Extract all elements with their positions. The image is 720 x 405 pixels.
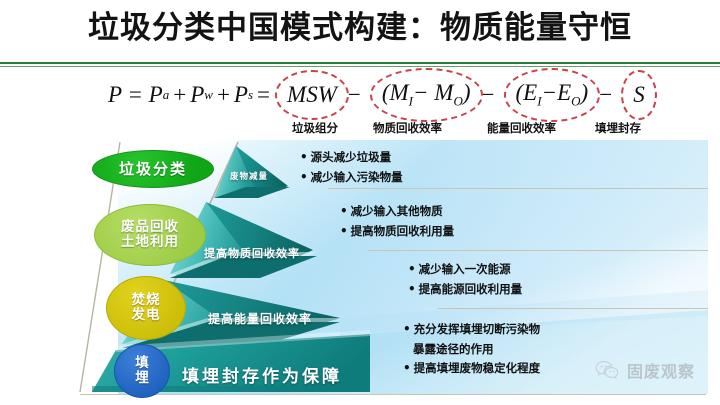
bullet-landfill-2: 提高填埋废物稳定化程度 xyxy=(403,359,540,379)
bullet-group-landfill: 充分发挥填埋切断污染物 暴露途径的作用 提高填埋废物稳定化程度 xyxy=(403,320,540,379)
eq-term-msw-text: MSW xyxy=(287,82,337,107)
hierarchy-label-landfill-line1: 填 xyxy=(135,356,149,371)
hierarchy-label-incineration-line1: 焚烧 xyxy=(132,293,161,308)
eq-minus-1: − xyxy=(344,82,365,108)
title-divider xyxy=(0,62,720,64)
eq-plus-1: + xyxy=(169,82,190,108)
equation-term-captions: 垃圾组分 物质回收效率 能量回收效率 填埋封存 xyxy=(0,120,720,138)
separator-line-3 xyxy=(438,308,708,309)
eq-term-storage-text: S xyxy=(633,82,645,107)
hierarchy-label-sorting-line1: 垃圾分类 xyxy=(119,161,187,177)
caption-landfill-storage: 填埋封存 xyxy=(595,120,641,136)
separator-baseline xyxy=(80,394,706,395)
watermark: 固废观察 xyxy=(595,358,695,382)
bullet-group-material: 减少输入其他物质 提高物质回收利用量 xyxy=(340,202,454,242)
caption-energy-recovery: 能量回收效率 xyxy=(487,120,556,136)
slide-canvas: 垃圾分类中国模式构建：物质能量守恒 P = Pa + Pw + Ps = MSW… xyxy=(0,0,720,405)
bullet-landfill-1-cont: 暴露途径的作用 xyxy=(403,340,540,359)
bullet-energy-1: 减少输入一次能源 xyxy=(408,260,522,280)
bullet-reduction-1: 源头减少垃圾量 xyxy=(300,148,403,168)
bullet-group-reduction: 源头减少垃圾量 减少输入污染物量 xyxy=(300,148,403,188)
pyramid-tier-label-reduction: 废物减量 xyxy=(230,170,268,182)
separator-line-1 xyxy=(328,188,708,189)
eq-minus-3: − xyxy=(595,82,616,108)
watermark-text: 固废观察 xyxy=(627,358,695,382)
eq-term-energy-sub-o: O xyxy=(571,94,580,109)
eq-plus-2: + xyxy=(213,82,234,108)
bullet-group-energy: 减少输入一次能源 提高能源回收利用量 xyxy=(408,260,522,300)
hierarchy-label-landfill: 填 埋 xyxy=(114,344,170,398)
hierarchy-label-recycling-line2: 土地利用 xyxy=(121,235,179,250)
separator-line-2 xyxy=(368,250,708,251)
hierarchy-label-sorting: 垃圾分类 xyxy=(92,150,214,188)
eq-lhs: P = P xyxy=(108,82,163,108)
eq-term-storage: S xyxy=(626,81,652,109)
eq-term-material-sub-o: O xyxy=(453,94,462,109)
hierarchy-label-incineration: 焚烧 发电 xyxy=(106,276,186,340)
pyramid-tier-label-landfill: 填埋封存作为保障 xyxy=(182,362,342,387)
eq-equals: = xyxy=(253,82,274,108)
eq-term-material-minus: − M xyxy=(413,80,453,105)
hierarchy-label-recycling: 废品回收 土地利用 xyxy=(94,204,206,266)
hierarchy-label-recycling-line1: 废品回收 xyxy=(121,220,179,235)
pyramid-tier-label-energy: 提高能量回收效率 xyxy=(208,310,312,327)
title-divider-secondary xyxy=(0,66,720,67)
eq-term-energy: (EI−EO) xyxy=(509,79,596,111)
mass-energy-equation: P = Pa + Pw + Ps = MSW − (MI− MO) − (EI−… xyxy=(108,74,668,116)
hierarchy-label-landfill-line2: 埋 xyxy=(135,371,149,386)
hierarchy-label-incineration-line2: 发电 xyxy=(132,308,161,323)
bullet-reduction-2: 减少输入污染物量 xyxy=(300,168,403,188)
eq-term-material: (MI− MO) xyxy=(375,79,478,111)
bullet-material-1: 减少输入其他物质 xyxy=(340,202,454,222)
pyramid-tier-label-material: 提高物质回收效率 xyxy=(204,245,300,261)
eq-minus-2: − xyxy=(478,82,499,108)
bullet-energy-2: 提高能源回收利用量 xyxy=(408,280,522,300)
eq-term-energy-close: ) xyxy=(581,80,589,105)
eq-term-energy-open: (E xyxy=(516,80,538,105)
page-title: 垃圾分类中国模式构建：物质能量守恒 xyxy=(0,8,720,48)
eq-term-material-close: ) xyxy=(463,80,471,105)
eq-ps: P xyxy=(234,82,248,108)
eq-pw-sub: w xyxy=(204,87,213,103)
eq-term-energy-minus: −E xyxy=(542,80,572,105)
eq-pw: P xyxy=(190,82,204,108)
eq-term-msw: MSW xyxy=(280,81,344,109)
wechat-icon xyxy=(595,360,621,380)
bullet-material-2: 提高物质回收利用量 xyxy=(340,222,454,242)
eq-term-material-open: (M xyxy=(382,80,409,105)
bullet-landfill-1: 充分发挥填埋切断污染物 xyxy=(403,320,540,340)
caption-waste-composition: 垃圾组分 xyxy=(292,120,338,136)
caption-material-recovery: 物质回收效率 xyxy=(373,120,442,136)
